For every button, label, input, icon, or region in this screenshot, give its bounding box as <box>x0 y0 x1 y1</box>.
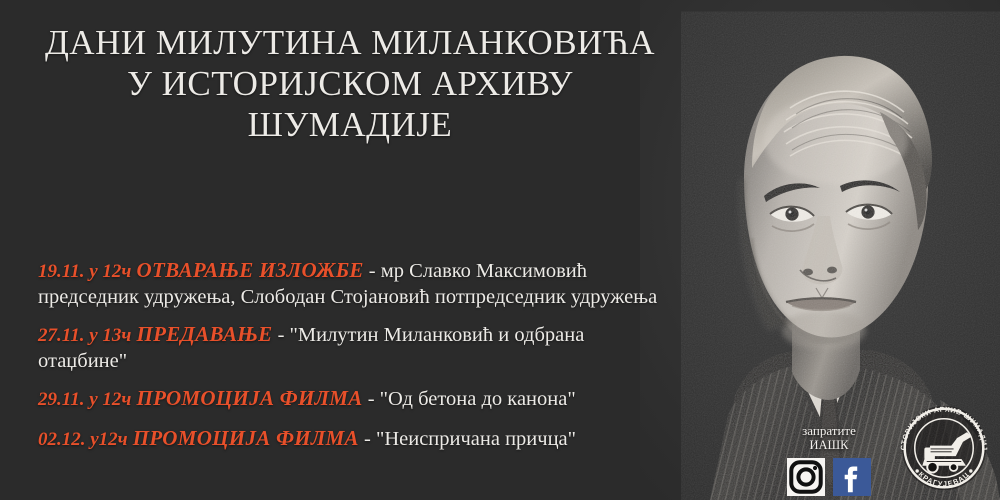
poster-title: ДАНИ МИЛУТИНА МИЛАНКОВИЋА У ИСТОРИЈСКОМ … <box>0 22 700 145</box>
event-date: 19.11. у 12ч <box>38 261 131 282</box>
follow-label-line1: запратите <box>770 423 888 438</box>
event-date: 02.12. у12ч <box>38 429 128 450</box>
follow-block: запратите ИАШК <box>770 423 888 496</box>
title-line-3: ШУМАДИЈЕ <box>0 104 700 145</box>
event-list: 19.11. у 12ч ОТВАРАЊЕ ИЗЛОЖБЕ - мр Славк… <box>38 258 658 452</box>
event-item: 02.12. у12ч ПРОМОЦИЈА ФИЛМА - "Неисприча… <box>38 426 658 453</box>
event-item: 27.11. у 13ч ПРЕДАВАЊЕ - "Милутин Миланк… <box>38 322 658 373</box>
event-date: 29.11. у 12ч <box>38 389 131 410</box>
event-item: 19.11. у 12ч ОТВАРАЊЕ ИЗЛОЖБЕ - мр Славк… <box>38 258 658 309</box>
social-icon-row <box>770 458 888 496</box>
archive-seal-icon: ИСТОРИЈСКИ АРХИВ ШУМАДИЈЕ КРАГУЈЕВАЦ <box>896 402 992 494</box>
title-line-2: У ИСТОРИЈСКОМ АРХИВУ <box>0 63 700 104</box>
follow-label-line2: ИАШК <box>770 438 888 453</box>
event-type: ПРОМОЦИЈА ФИЛМА <box>136 386 362 410</box>
event-type: ПРЕДАВАЊЕ <box>136 322 272 346</box>
event-description: - "Од бетона до канона" <box>363 388 576 410</box>
instagram-icon[interactable] <box>787 458 825 496</box>
event-type: ОТВАРАЊЕ ИЗЛОЖБЕ <box>136 258 363 282</box>
event-type: ПРОМОЦИЈА ФИЛМА <box>133 426 359 450</box>
title-line-1: ДАНИ МИЛУТИНА МИЛАНКОВИЋА <box>0 22 700 63</box>
event-item: 29.11. у 12ч ПРОМОЦИЈА ФИЛМА - "Од бетон… <box>38 386 658 413</box>
event-description: - "Неиспричана причца" <box>359 428 576 450</box>
event-date: 27.11. у 13ч <box>38 325 131 346</box>
poster-canvas: ДАНИ МИЛУТИНА МИЛАНКОВИЋА У ИСТОРИЈСКОМ … <box>0 0 1000 500</box>
archive-seal-graphic: ИСТОРИЈСКИ АРХИВ ШУМАДИЈЕ КРАГУЈЕВАЦ <box>896 402 992 494</box>
facebook-icon[interactable] <box>833 458 871 496</box>
